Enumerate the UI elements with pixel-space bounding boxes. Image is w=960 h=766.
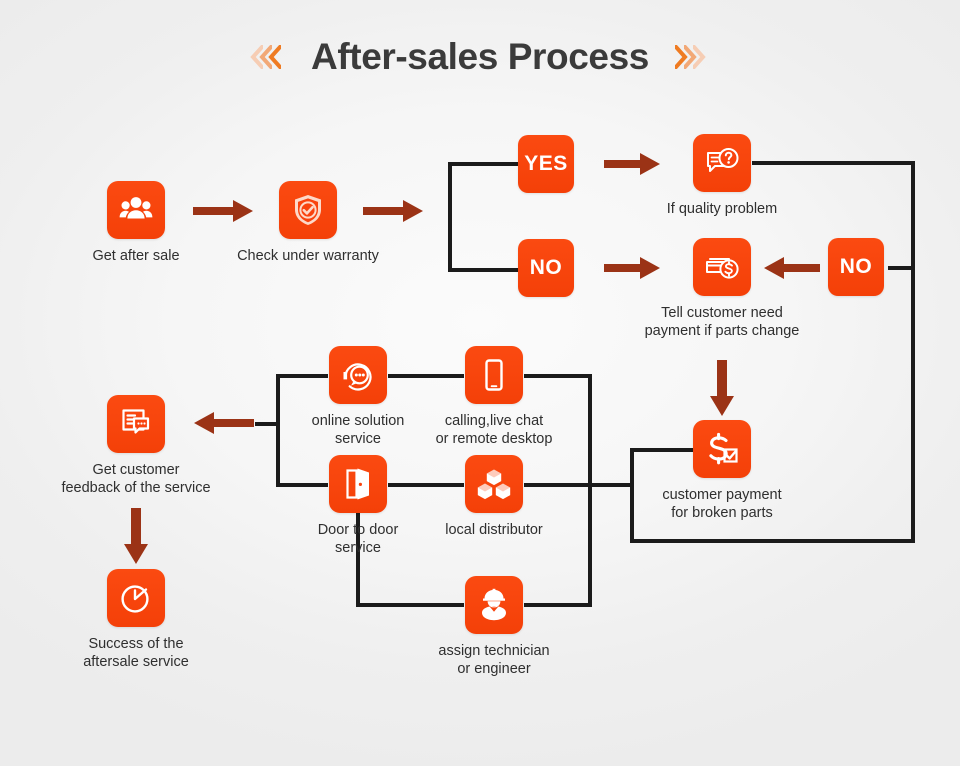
connector-right-vertical [911, 161, 915, 543]
yes-label: YES [524, 152, 568, 176]
document-chat-icon [107, 395, 165, 453]
node-label: local distributor [445, 522, 543, 540]
boxes-icon [465, 455, 523, 513]
no-badge: NO [518, 239, 574, 297]
node-success[interactable]: Success of the aftersale service [26, 569, 246, 671]
headset-chat-icon [329, 346, 387, 404]
shield-check-icon [279, 181, 337, 239]
node-assign-technician[interactable]: assign technician or engineer [384, 576, 604, 678]
technician-icon [465, 576, 523, 634]
flowchart-canvas: After-sales Process [0, 0, 960, 766]
node-label: If quality problem [667, 201, 777, 219]
smartphone-icon [465, 346, 523, 404]
node-label: Get customer feedback of the service [61, 462, 210, 497]
node-check-warranty[interactable]: Check under warranty [198, 181, 418, 266]
node-no-right[interactable]: NO [746, 238, 960, 296]
chat-question-icon [693, 134, 751, 192]
node-quality-problem[interactable]: If quality problem [612, 134, 832, 219]
yes-badge: YES [518, 135, 574, 193]
open-door-icon [329, 455, 387, 513]
card-dollar-icon [693, 238, 751, 296]
arrow-down-icon [709, 360, 735, 418]
node-calling-chat[interactable]: calling,live chat or remote desktop [384, 346, 604, 448]
page-title: After-sales Process [311, 36, 649, 78]
node-label: calling,live chat or remote desktop [436, 413, 553, 448]
chevrons-right-icon [679, 45, 706, 69]
no-label: NO [530, 256, 563, 280]
title-bar: After-sales Process [0, 22, 960, 92]
node-local-distributor[interactable]: local distributor [384, 455, 604, 540]
no-label: NO [840, 255, 873, 279]
node-label: assign technician or engineer [438, 643, 549, 678]
node-customer-payment[interactable]: customer payment for broken parts [612, 420, 832, 522]
node-label: Get after sale [92, 248, 179, 266]
node-label: customer payment for broken parts [662, 487, 781, 522]
node-label: Tell customer need payment if parts chan… [645, 305, 800, 340]
people-group-icon [107, 181, 165, 239]
chevrons-left-icon [254, 45, 281, 69]
node-get-feedback[interactable]: Get customer feedback of the service [26, 395, 246, 497]
no-badge: NO [828, 238, 884, 296]
clock-check-icon [107, 569, 165, 627]
connector-bottom-of-right-loop [630, 539, 915, 543]
node-label: Check under warranty [237, 248, 379, 266]
dollar-check-icon [693, 420, 751, 478]
arrow-down-icon [123, 508, 149, 566]
node-label: Success of the aftersale service [83, 636, 189, 671]
